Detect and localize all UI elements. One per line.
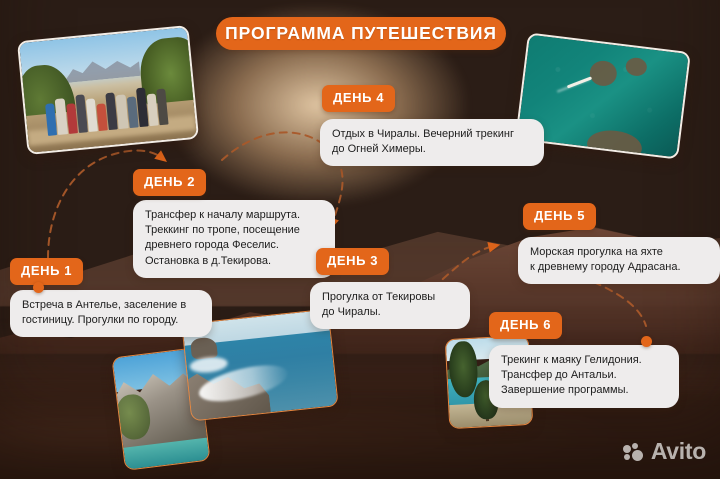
day-bubble-3: Прогулка от Текировы до Чиралы. bbox=[310, 282, 470, 329]
day-bubble-2: Трансфер к началу маршрута. Треккинг по … bbox=[133, 200, 335, 278]
hiking-group-photo bbox=[17, 25, 199, 155]
page-title-text: ПРОГРАММА ПУТЕШЕСТВИЯ bbox=[225, 23, 497, 44]
day-badge-5[interactable]: ДЕНЬ 5 bbox=[523, 203, 596, 230]
day-badge-1-label: ДЕНЬ 1 bbox=[21, 263, 72, 278]
day-badge-4-label: ДЕНЬ 4 bbox=[333, 90, 384, 105]
day-badge-3-label: ДЕНЬ 3 bbox=[327, 253, 378, 268]
day-bubble-5: Морская прогулка на яхте к древнему горо… bbox=[518, 237, 720, 284]
day-badge-2-label: ДЕНЬ 2 bbox=[144, 174, 195, 189]
avito-logo-icon bbox=[623, 443, 645, 461]
day-badge-1[interactable]: ДЕНЬ 1 bbox=[10, 258, 83, 285]
avito-watermark: Avito bbox=[623, 440, 706, 463]
day-bubble-1: Встреча в Антелье, заселение в гостиницу… bbox=[10, 290, 212, 337]
day-text-3: Прогулка от Текировы до Чиралы. bbox=[322, 290, 458, 320]
day-bubble-4: Отдых в Чиралы. Вечерний трекинг до Огне… bbox=[320, 119, 544, 166]
day-badge-3[interactable]: ДЕНЬ 3 bbox=[316, 248, 389, 275]
infographic-canvas: ПРОГРАММА ПУТЕШЕСТВИЯ ДЕНЬ 1 Встреча в А… bbox=[0, 0, 720, 479]
day-badge-2[interactable]: ДЕНЬ 2 bbox=[133, 169, 206, 196]
day-text-4: Отдых в Чиралы. Вечерний трекинг до Огне… bbox=[332, 127, 532, 157]
day-connector-dot-1 bbox=[33, 282, 44, 293]
day-text-5: Морская прогулка на яхте к древнему горо… bbox=[530, 245, 708, 275]
avito-wordmark: Avito bbox=[651, 440, 706, 463]
day-text-1: Встреча в Антелье, заселение в гостиницу… bbox=[22, 298, 200, 328]
day-badge-4[interactable]: ДЕНЬ 4 bbox=[322, 85, 395, 112]
day-connector-dot-6 bbox=[641, 336, 652, 347]
day-bubble-6: Трекинг к маяку Гелидония. Трансфер до А… bbox=[489, 345, 679, 408]
day-badge-6-label: ДЕНЬ 6 bbox=[500, 317, 551, 332]
page-title: ПРОГРАММА ПУТЕШЕСТВИЯ bbox=[216, 17, 506, 50]
day-text-2: Трансфер к началу маршрута. Треккинг по … bbox=[145, 208, 323, 269]
day-text-6: Трекинг к маяку Гелидония. Трансфер до А… bbox=[501, 353, 667, 399]
day-badge-5-label: ДЕНЬ 5 bbox=[534, 208, 585, 223]
day-badge-6[interactable]: ДЕНЬ 6 bbox=[489, 312, 562, 339]
